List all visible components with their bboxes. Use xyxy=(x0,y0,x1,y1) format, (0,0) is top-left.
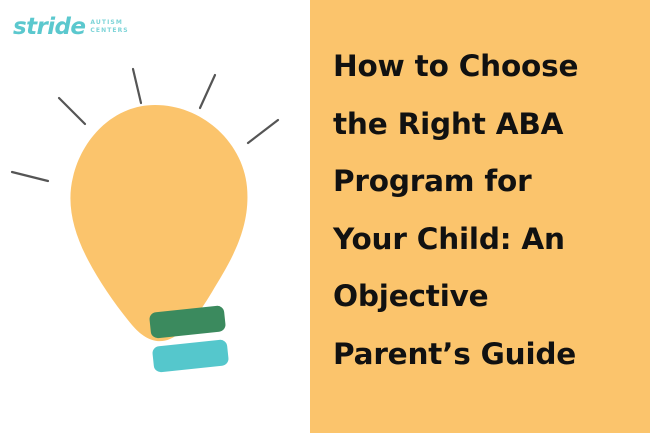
ray-left xyxy=(12,172,48,181)
ray-top xyxy=(133,69,141,103)
brand-logo[interactable]: stride AUTISM CENTERS xyxy=(13,16,129,39)
ray-upper-left xyxy=(59,98,85,124)
brand-wordmark: stride xyxy=(13,16,85,39)
illustration-panel: stride AUTISM CENTERS xyxy=(0,0,310,433)
page-title: How to Choose the Right ABA Program for … xyxy=(333,38,633,383)
headline-panel: How to Choose the Right ABA Program for … xyxy=(310,0,650,433)
brand-tagline-line-2: CENTERS xyxy=(90,27,128,35)
lightbulb-icon xyxy=(0,55,310,385)
brand-tagline: AUTISM CENTERS xyxy=(90,19,128,35)
lightbulb-base-lower xyxy=(152,339,229,373)
blog-header-banner: stride AUTISM CENTERS How to C xyxy=(0,0,650,433)
lightbulb-glass xyxy=(70,105,247,341)
brand-tagline-line-1: AUTISM xyxy=(90,19,128,27)
ray-right xyxy=(248,120,278,143)
ray-upper-right xyxy=(200,75,215,108)
